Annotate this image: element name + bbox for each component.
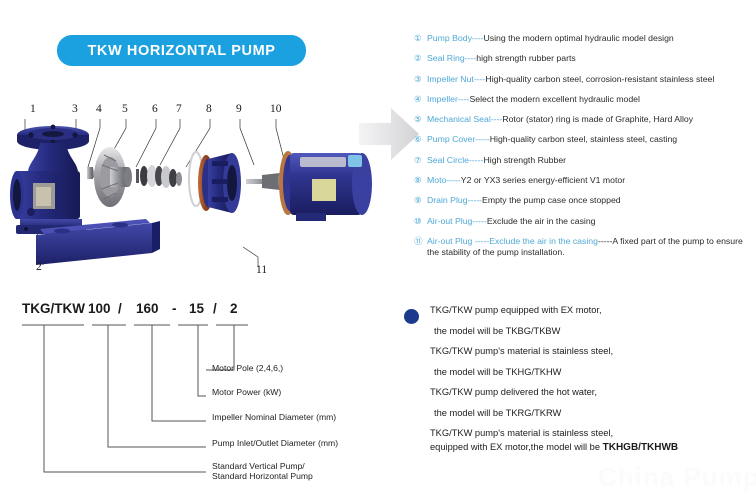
model-code-segment-2: /	[118, 301, 122, 316]
right-arrow-icon	[357, 103, 421, 165]
part-eleven-blue-text: Air-out Plug -----Exclude the air in the…	[427, 236, 598, 246]
model-code-label-4: Standard Vertical Pump/	[212, 461, 305, 471]
part-eleven-dash: -----	[598, 236, 612, 246]
part-description: Exclude the air in the casing	[487, 216, 596, 226]
part-dash: ----	[465, 53, 477, 63]
part-number: ⑨	[414, 195, 427, 205]
callout-number-5: 5	[122, 103, 128, 115]
variant-line-final: equipped with EX motor,the model will be…	[430, 442, 756, 453]
variant-note-lines: TKG/TKW pump equipped with EX motor, the…	[430, 305, 756, 453]
code-leader-lines	[44, 325, 234, 472]
callout-number-2: 2	[36, 261, 42, 273]
callout-number-7: 7	[176, 103, 182, 115]
parts-legend-list: ① Pump Body ---- Using the modern optima…	[414, 33, 756, 269]
model-code-segment-6: /	[213, 301, 217, 316]
part-number: ⑥	[414, 134, 427, 144]
part-item: ④ Impeller ---- Select the modern excell…	[414, 94, 756, 104]
part-number: ②	[414, 53, 427, 63]
part-description: Select the modern excellent hydraulic mo…	[469, 94, 639, 104]
part-dash: -----	[446, 175, 460, 185]
part-description: Rotor (stator) ring is made of Graphite,…	[502, 114, 693, 124]
part-number: ⑧	[414, 175, 427, 185]
part-dash: ----	[491, 114, 503, 124]
part-name: Pump Body	[427, 33, 472, 43]
part-description: Empty the pump case once stopped	[482, 195, 621, 205]
bullet-dot-icon	[404, 309, 419, 324]
part-description: High strength Rubber	[483, 155, 566, 165]
callout-number-4: 4	[96, 103, 102, 115]
part-dash: ----	[458, 94, 470, 104]
part-item-eleven: ⑪ Air-out Plug -----Exclude the air in t…	[414, 236, 756, 259]
variant-line-final-prefix: equipped with EX motor,the model will be	[430, 442, 603, 452]
part-name: Seal Circle	[427, 155, 469, 165]
part-number: ①	[414, 33, 427, 43]
part-dash: -----	[475, 134, 489, 144]
part-item: ⑨ Drain Plug ----- Empty the pump case o…	[414, 195, 756, 205]
model-variant-notes: TKG/TKW pump equipped with EX motor, the…	[400, 305, 756, 463]
model-code-segment-4: -	[172, 301, 177, 316]
callout-number-10: 10	[270, 103, 282, 115]
page-title: TKW HORIZONTAL PUMP	[87, 43, 275, 59]
model-code-breakdown: TKG/TKW100/160-15/2 Motor Pole (2,4,6,)M…	[0, 295, 400, 500]
part-name: Air-out Plug	[427, 216, 472, 226]
part-number: ⑩	[414, 216, 427, 226]
variant-line-final-model: TKHGB/TKHWB	[603, 442, 679, 453]
part-description: Using the modern optimal hydraulic model…	[484, 33, 674, 43]
watermark-text: China Pumps	[598, 462, 756, 493]
part-name: Pump Cover	[427, 134, 475, 144]
part-item: ⑤ Mechanical Seal ---- Rotor (stator) ri…	[414, 114, 756, 124]
mechanical-seal-part	[136, 165, 182, 188]
model-code-segment-5: 15	[189, 301, 205, 316]
part-dash: ----	[474, 74, 486, 84]
model-code-label-2: Impeller Nominal Diameter (mm)	[212, 412, 336, 422]
part-name: Drain Plug	[427, 195, 468, 205]
variant-line: TKG/TKW pump delivered the hot water,	[430, 387, 756, 398]
part-number: ⑪	[414, 236, 427, 246]
part-item: ⑧ Moto ----- Y2 or YX3 series energy-eff…	[414, 175, 756, 185]
model-code-segment-3: 160	[136, 301, 159, 316]
part-item: ⑩ Air-out Plug ----- Exclude the air in …	[414, 216, 756, 226]
callout-number-11: 11	[256, 264, 267, 276]
variant-line: TKG/TKW pump equipped with EX motor,	[430, 305, 756, 316]
pump-cover-part	[198, 153, 241, 213]
part-dash: -----	[472, 216, 486, 226]
model-code-segment-0: TKG/TKW	[22, 301, 85, 316]
part-name: Impeller	[427, 94, 458, 104]
model-code-label-0: Motor Pole (2,4,6,)	[212, 363, 283, 373]
model-code-segment-7: 2	[230, 301, 238, 316]
callout-number-6: 6	[152, 103, 158, 115]
variant-line: TKG/TKW pump's material is stainless ste…	[430, 346, 756, 357]
pump-body-part	[10, 125, 89, 234]
variant-line: the model will be TKBG/TKBW	[434, 326, 756, 337]
page-title-banner: TKW HORIZONTAL PUMP	[57, 35, 306, 66]
model-code-label-5: Standard Horizontal Pump	[212, 471, 313, 481]
part-eleven-body: Air-out Plug -----Exclude the air in the…	[427, 236, 756, 259]
part-item: ⑦ Seal Circle ----- High strength Rubber	[414, 155, 756, 165]
model-code-label-3: Pump Inlet/Outlet Diameter (mm)	[212, 438, 338, 448]
impeller-part	[94, 147, 132, 207]
part-name: Impeller Nut	[427, 74, 474, 84]
part-dash: ----	[472, 33, 484, 43]
part-item: ⑥ Pump Cover ----- High-quality carbon s…	[414, 134, 756, 144]
model-code-label-1: Motor Power (kW)	[212, 387, 281, 397]
callout-number-8: 8	[206, 103, 212, 115]
exploded-pump-diagram: 1234567891011	[0, 95, 400, 290]
part-description: High-quality carbon steel, corrosion-res…	[485, 74, 714, 84]
part-dash: -----	[468, 195, 482, 205]
variant-line: the model will be TKHG/TKHW	[434, 367, 756, 378]
model-code-segment-1: 100	[88, 301, 111, 316]
part-item: ① Pump Body ---- Using the modern optima…	[414, 33, 756, 43]
callout-number-3: 3	[72, 103, 78, 115]
impeller-nut-part	[87, 167, 95, 179]
part-name: Seal Ring	[427, 53, 465, 63]
part-description: Y2 or YX3 series energy-efficient V1 mot…	[461, 175, 625, 185]
variant-line: the model will be TKRG/TKRW	[434, 408, 756, 419]
part-number: ④	[414, 94, 427, 104]
part-name: Moto	[427, 175, 446, 185]
part-name: Mechanical Seal	[427, 114, 491, 124]
callout-number-1: 1	[30, 103, 36, 115]
part-item: ② Seal Ring ---- high strength rubber pa…	[414, 53, 756, 63]
part-description: High-quality carbon steel, stainless ste…	[490, 134, 677, 144]
variant-line: TKG/TKW pump's material is stainless ste…	[430, 428, 756, 439]
callout-number-9: 9	[236, 103, 242, 115]
part-item: ③ Impeller Nut ---- High-quality carbon …	[414, 74, 756, 84]
product-spec-sheet: TKW HORIZONTAL PUMP	[0, 0, 756, 500]
part-number: ⑦	[414, 155, 427, 165]
part-number: ⑤	[414, 114, 427, 124]
part-description: high strength rubber parts	[476, 53, 575, 63]
part-number: ③	[414, 74, 427, 84]
part-dash: -----	[469, 155, 483, 165]
